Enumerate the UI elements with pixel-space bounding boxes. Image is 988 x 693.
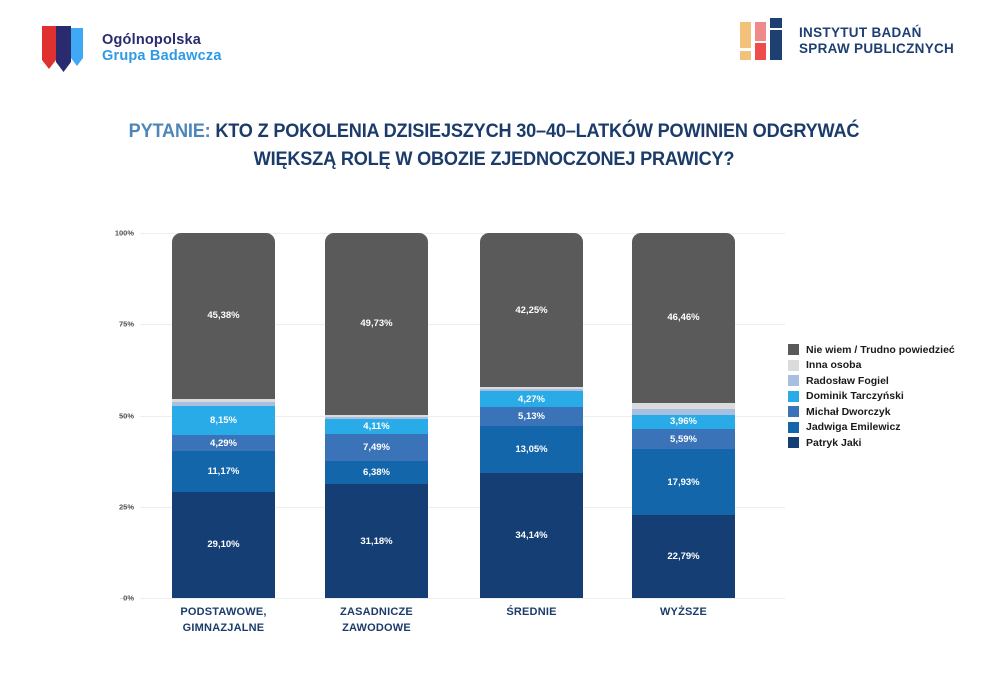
legend-swatch-icon — [788, 422, 799, 433]
bar-segment[interactable]: 34,14% — [480, 473, 583, 598]
bar-segment[interactable]: 31,18% — [325, 484, 428, 598]
category-label-line: WYŻSZE — [609, 605, 759, 621]
y-axis-tick-label: 75% — [119, 320, 134, 329]
category-label-line: ŚREDNIE — [457, 605, 607, 621]
legend-item[interactable]: Patryk Jaki — [788, 435, 955, 451]
bar-segment[interactable]: 46,46% — [632, 233, 735, 403]
legend-item[interactable]: Michał Dworczyk — [788, 404, 955, 420]
x-axis-category-label: WYŻSZE — [609, 605, 759, 621]
bar-segment[interactable]: 7,49% — [325, 434, 428, 461]
category-label-line: ZAWODOWE — [302, 621, 452, 637]
legend-swatch-icon — [788, 391, 799, 402]
legend-item[interactable]: Dominik Tarczyński — [788, 389, 955, 405]
bar-segment[interactable]: 4,27% — [480, 391, 583, 407]
x-axis-category-label: PODSTAWOWE,GIMNAZJALNE — [149, 605, 299, 637]
legend-swatch-icon — [788, 406, 799, 417]
bar-column[interactable]: 49,73%4,11%7,49%6,38%31,18% — [325, 233, 428, 598]
legend-item[interactable]: Jadwiga Emilewicz — [788, 420, 955, 436]
legend-label: Radosław Fogiel — [806, 375, 889, 387]
y-axis-tick-label: 0% — [123, 594, 134, 603]
x-axis-category-label: ZASADNICZEZAWODOWE — [302, 605, 452, 637]
bar-segment[interactable]: 5,59% — [632, 429, 735, 449]
legend-item[interactable]: Radosław Fogiel — [788, 373, 955, 389]
bar-segment[interactable]: 49,73% — [325, 233, 428, 415]
legend-label: Inna osoba — [806, 359, 861, 371]
bar-column[interactable]: 42,25%4,27%5,13%13,05%34,14% — [480, 233, 583, 598]
legend-item[interactable]: Nie wiem / Trudno powiedzieć — [788, 342, 955, 358]
legend-swatch-icon — [788, 375, 799, 386]
bar-segment[interactable]: 45,38% — [172, 233, 275, 399]
y-axis-tick-label: 25% — [119, 502, 134, 511]
legend-label: Jadwiga Emilewicz — [806, 421, 901, 433]
category-label-line: ZASADNICZE — [302, 605, 452, 621]
x-axis-category-label: ŚREDNIE — [457, 605, 607, 621]
legend-label: Michał Dworczyk — [806, 406, 891, 418]
bar-column[interactable]: 45,38%8,15%4,29%11,17%29,10% — [172, 233, 275, 598]
bar-segment[interactable]: 3,96% — [632, 415, 735, 429]
bar-segment[interactable]: 4,29% — [172, 435, 275, 451]
legend-swatch-icon — [788, 437, 799, 448]
bar-segment[interactable]: 5,13% — [480, 407, 583, 426]
bar-column[interactable]: 46,46%3,96%5,59%17,93%22,79% — [632, 233, 735, 598]
y-axis-tick-label: 100% — [115, 229, 134, 238]
legend-swatch-icon — [788, 344, 799, 355]
legend-label: Dominik Tarczyński — [806, 390, 904, 402]
y-axis-tick-label: 50% — [119, 411, 134, 420]
category-label-line: PODSTAWOWE, — [149, 605, 299, 621]
bar-segment[interactable]: 11,17% — [172, 451, 275, 492]
legend-swatch-icon — [788, 360, 799, 371]
bar-segment[interactable]: 8,15% — [172, 406, 275, 436]
bar-segment[interactable]: 17,93% — [632, 449, 735, 514]
bar-segment[interactable]: 13,05% — [480, 426, 583, 474]
bar-segment[interactable]: 4,11% — [325, 419, 428, 434]
bar-segment[interactable]: 42,25% — [480, 233, 583, 387]
legend-label: Nie wiem / Trudno powiedzieć — [806, 344, 955, 356]
legend-label: Patryk Jaki — [806, 437, 861, 449]
chart-legend: Nie wiem / Trudno powiedziećInna osobaRa… — [788, 342, 955, 451]
legend-item[interactable]: Inna osoba — [788, 358, 955, 374]
bar-segment[interactable]: 6,38% — [325, 461, 428, 484]
plot-area: 100%75%50%25%0%45,38%8,15%4,29%11,17%29,… — [140, 233, 785, 598]
bar-segment[interactable]: 22,79% — [632, 515, 735, 598]
category-label-line: GIMNAZJALNE — [149, 621, 299, 637]
bar-segment[interactable]: 29,10% — [172, 492, 275, 598]
gridline — [140, 598, 785, 599]
